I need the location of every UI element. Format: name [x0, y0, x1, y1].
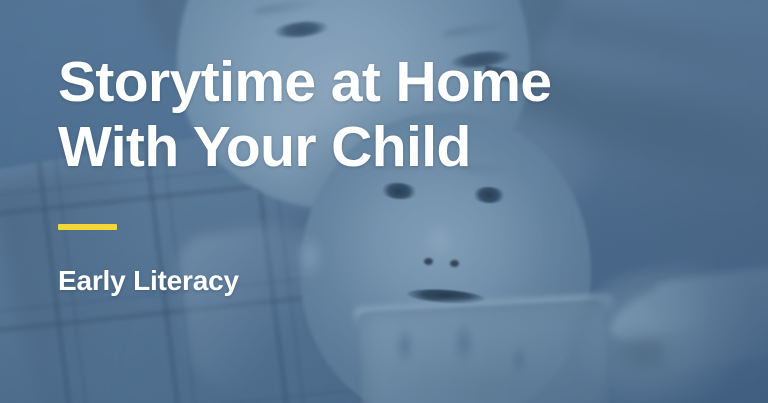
category-label: Early Literacy — [58, 265, 698, 297]
accent-divider — [58, 224, 117, 230]
hero-content: Storytime at Home With Your Child Early … — [58, 0, 698, 403]
page-title: Storytime at Home With Your Child — [58, 0, 698, 180]
hero-banner: Storytime at Home With Your Child Early … — [0, 0, 768, 403]
